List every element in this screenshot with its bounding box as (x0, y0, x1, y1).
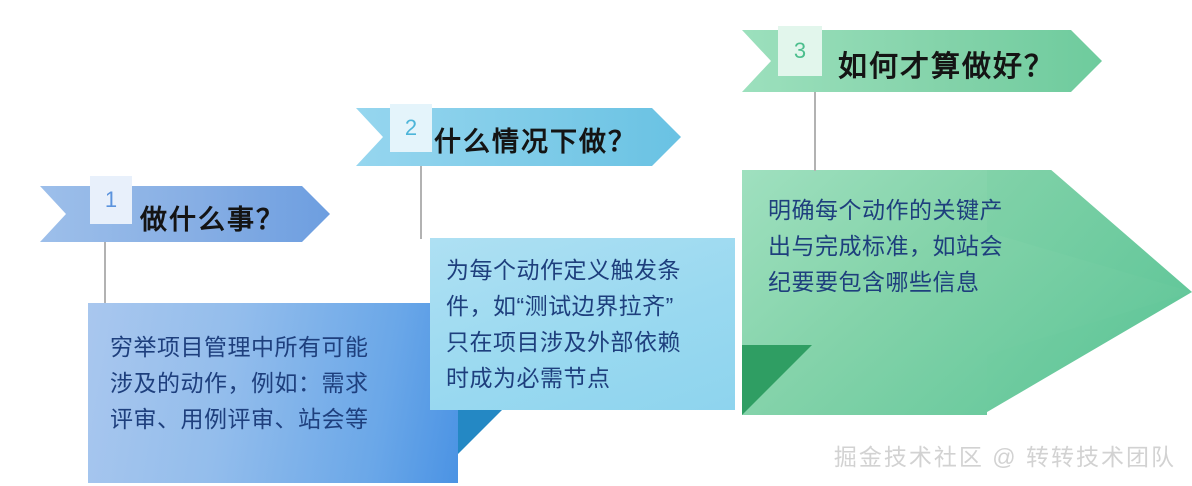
step-1-number-badge: 1 (90, 176, 132, 224)
step-1-body-panel: 穷举项目管理中所有可能 涉及的动作，例如：需求 评审、用例评审、站会等 (88, 303, 458, 483)
connector-step-2 (420, 166, 422, 239)
step-2-banner-label: 什么情况下做？ (434, 120, 637, 159)
step-1-banner-label: 做什么事？ (140, 198, 285, 237)
diagram-canvas: 穷举项目管理中所有可能 涉及的动作，例如：需求 评审、用例评审、站会等 为每个动… (0, 0, 1192, 486)
step-3-body-panel: 明确每个动作的关键产 出与完成标准，如站会 纪要要包含哪些信息 (742, 170, 1052, 345)
step-3-number-badge: 3 (778, 26, 822, 76)
step-3-fold-shadow (742, 345, 812, 415)
step-1-number: 1 (105, 187, 117, 213)
step-1-body-text: 穷举项目管理中所有可能 涉及的动作，例如：需求 评审、用例评审、站会等 (88, 303, 458, 437)
step-3-number: 3 (794, 38, 806, 64)
step-2-body-text: 为每个动作定义触发条 件，如“测试边界拉齐” 只在项目涉及外部依赖 时成为必需节… (430, 238, 735, 396)
watermark: 掘金技术社区 @ 转转技术团队 (834, 438, 1176, 472)
connector-step-3 (814, 92, 816, 171)
step-3-banner-label: 如何才算做好？ (838, 43, 1055, 85)
step-2-number: 2 (405, 115, 417, 141)
step-3-body-text: 明确每个动作的关键产 出与完成标准，如站会 纪要要包含哪些信息 (742, 170, 1052, 300)
step-2-number-badge: 2 (390, 104, 432, 152)
connector-step-1 (104, 242, 106, 304)
step-2-body-panel: 为每个动作定义触发条 件，如“测试边界拉齐” 只在项目涉及外部依赖 时成为必需节… (430, 238, 735, 410)
step-1-banner[interactable]: 做什么事？ (40, 186, 330, 242)
